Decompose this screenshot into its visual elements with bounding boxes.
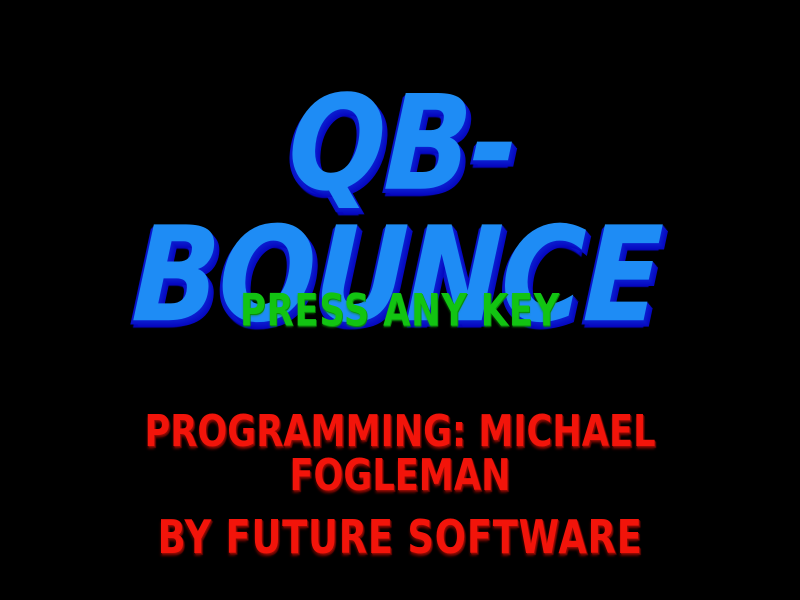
credits-block: PROGRAMMING: MICHAEL FOGLEMAN BY FUTURE … (0, 410, 800, 560)
game-title: QB-BOUNCE (0, 86, 800, 334)
credit-line-programming: PROGRAMMING: MICHAEL FOGLEMAN (80, 410, 720, 498)
credit-line: BY FUTURE SOFTWARE (0, 514, 800, 560)
game-splash-screen[interactable]: QB-BOUNCE PRESS ANY KEY PROGRAMMING: MIC… (0, 0, 800, 600)
press-any-key-prompt[interactable]: PRESS ANY KEY (0, 289, 800, 333)
game-title-text: QB-BOUNCE (26, 79, 774, 342)
press-any-key-text: PRESS ANY KEY (240, 289, 560, 334)
credit-line-publisher: BY FUTURE SOFTWARE (157, 514, 642, 560)
credit-line: PROGRAMMING: MICHAEL FOGLEMAN (0, 410, 800, 498)
